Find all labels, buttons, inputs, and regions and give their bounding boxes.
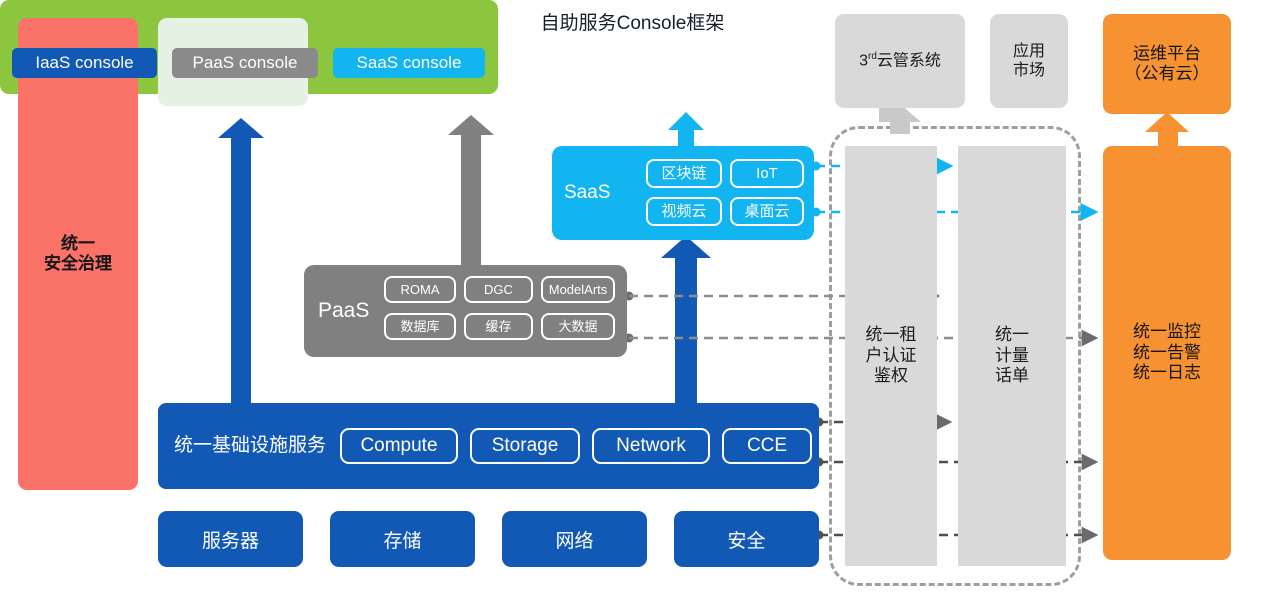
paas-console-button[interactable]: PaaS console bbox=[172, 48, 318, 78]
unified-infrastructure-label: 统一基础设施服务 bbox=[174, 403, 326, 489]
infra-tag-compute[interactable]: Compute bbox=[340, 428, 458, 464]
paas-tag-bigdata[interactable]: 大数据 bbox=[541, 313, 615, 340]
iaas-console-button[interactable]: IaaS console bbox=[12, 48, 157, 78]
third-party-ordinal-sup: rd bbox=[868, 51, 877, 62]
paas-tag-database[interactable]: 数据库 bbox=[384, 313, 456, 340]
saas-tag-desktop-cloud[interactable]: 桌面云 bbox=[730, 197, 804, 226]
third-party-cloud-label: 3rd云管系统 bbox=[859, 51, 941, 71]
resource-box-security[interactable]: 安全 bbox=[674, 511, 819, 567]
resource-box-server[interactable]: 服务器 bbox=[158, 511, 303, 567]
unified-tenant-auth-bar[interactable]: 统一租 户认证 鉴权 bbox=[845, 146, 937, 566]
saas-console-button[interactable]: SaaS console bbox=[333, 48, 485, 78]
app-market-box[interactable]: 应用 市场 bbox=[990, 14, 1068, 108]
arrow-saas-to-saas-console bbox=[668, 112, 704, 146]
saas-tag-blockchain[interactable]: 区块链 bbox=[646, 159, 722, 188]
paas-tag-dgc[interactable]: DGC bbox=[464, 276, 533, 303]
arrow-paas-to-console bbox=[448, 115, 494, 265]
ops-platform-capabilities-panel[interactable]: 统一监控 统一告警 统一日志 bbox=[1103, 146, 1231, 560]
saas-layer-label: SaaS bbox=[564, 146, 610, 240]
third-party-prefix: 3 bbox=[859, 53, 868, 70]
infra-tag-cce[interactable]: CCE bbox=[722, 428, 812, 464]
arrow-infra-to-api-gateway bbox=[218, 118, 264, 403]
infra-tag-network[interactable]: Network bbox=[592, 428, 710, 464]
console-framework-title: 自助服务Console框架 bbox=[0, 8, 1265, 35]
saas-tag-video-cloud[interactable]: 视频云 bbox=[646, 197, 722, 226]
resource-box-storage[interactable]: 存储 bbox=[330, 511, 475, 567]
infra-tag-storage[interactable]: Storage bbox=[470, 428, 580, 464]
unified-metering-bar[interactable]: 统一 计量 话单 bbox=[958, 146, 1066, 566]
resource-box-network[interactable]: 网络 bbox=[502, 511, 647, 567]
paas-layer-label: PaaS bbox=[318, 265, 369, 357]
arrow-to-ops-platform bbox=[1145, 112, 1189, 146]
security-governance-panel[interactable]: 统一 安全治理 bbox=[18, 18, 138, 490]
paas-tag-roma[interactable]: ROMA bbox=[384, 276, 456, 303]
saas-layer-panel: SaaS 区块链 IoT 视频云 桌面云 bbox=[552, 146, 814, 240]
paas-layer-panel: PaaS ROMA DGC ModelArts 数据库 缓存 大数据 bbox=[304, 265, 627, 357]
paas-tag-cache[interactable]: 缓存 bbox=[464, 313, 533, 340]
architecture-diagram: 统一 安全治理 API网关 自助服务Console框架 IaaS console… bbox=[0, 0, 1265, 605]
third-party-cloud-mgmt-box[interactable]: 3rd云管系统 bbox=[835, 14, 965, 108]
arrow-infra-to-saas bbox=[661, 236, 711, 403]
unified-infrastructure-panel: 统一基础设施服务 Compute Storage Network CCE bbox=[158, 403, 819, 489]
paas-tag-modelarts[interactable]: ModelArts bbox=[541, 276, 615, 303]
third-party-suffix: 云管系统 bbox=[877, 53, 941, 70]
ops-platform-public-cloud-box[interactable]: 运维平台 （公有云） bbox=[1103, 14, 1231, 114]
saas-tag-iot[interactable]: IoT bbox=[730, 159, 804, 188]
